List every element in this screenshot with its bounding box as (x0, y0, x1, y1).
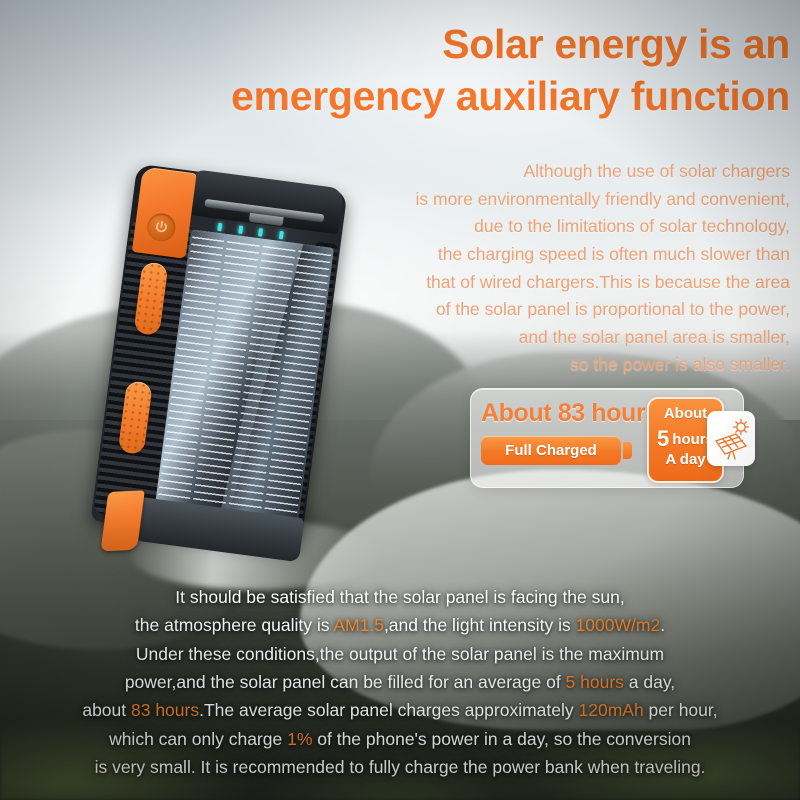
details-text: is very small. It is recommended to full… (95, 757, 706, 777)
power-button[interactable] (146, 212, 177, 243)
details-text: . (660, 615, 665, 635)
details-text: Under these conditions,the output of the… (136, 644, 664, 664)
details-paragraph: It should be satisfied that the solar pa… (20, 583, 780, 781)
callout-title: About 83 hours (481, 399, 659, 428)
solar-panel-sun-icon (711, 416, 751, 461)
details-text: a day, (624, 672, 675, 692)
highlight-120mah: 120mAh (579, 700, 644, 720)
details-text: about (82, 700, 131, 720)
details-line: It should be satisfied that the solar pa… (20, 583, 780, 611)
details-text: of the phone's power in a day, so the co… (312, 729, 691, 749)
power-icon (152, 218, 170, 236)
power-bank-orange-corner (132, 166, 197, 258)
details-text: per hour, (644, 700, 718, 720)
tile-number: 5 (657, 426, 669, 451)
details-line: about 83 hours.The average solar panel c… (20, 696, 780, 724)
details-line: which can only charge 1% of the phone's … (20, 725, 780, 753)
page-title: Solar energy is an emergency auxiliary f… (90, 18, 790, 123)
battery-label: Full Charged (481, 436, 621, 465)
full-charged-battery: Full Charged (481, 436, 631, 465)
solar-panel-sun-icon-tile (707, 411, 755, 466)
details-line: is very small. It is recommended to full… (20, 753, 780, 781)
highlight-irradiance: 1000W/m2 (576, 615, 661, 635)
details-text: power,and the solar panel can be filled … (125, 672, 566, 692)
highlight-am15: AM1.5 (333, 615, 384, 635)
details-text: It should be satisfied that the solar pa… (175, 587, 624, 607)
details-text: ,and the light intensity is (384, 615, 576, 635)
solar-power-bank-product (105, 168, 395, 578)
details-line: power,and the solar panel can be filled … (20, 668, 780, 696)
details-line: the atmosphere quality is AM1.5,and the … (20, 611, 780, 639)
led-indicator-dot (217, 222, 222, 230)
details-text: .The average solar panel charges approxi… (199, 700, 578, 720)
headline-line-1: Solar energy is an (442, 21, 790, 67)
product-marketing-banner: Solar energy is an emergency auxiliary f… (0, 0, 800, 800)
details-text: which can only charge (109, 729, 287, 749)
battery-cap (623, 442, 632, 459)
highlight-83-hours: 83 hours (131, 700, 199, 720)
details-line: Under these conditions,the output of the… (20, 640, 780, 668)
led-indicator-dot (258, 228, 263, 236)
headline-line-2: emergency auxiliary function (90, 70, 790, 122)
led-indicator-dot (238, 225, 243, 233)
charge-time-callout-card: About 83 hours Full Charged About 5hours… (470, 388, 744, 488)
highlight-1-percent: 1% (287, 729, 312, 749)
details-text: the atmosphere quality is (135, 615, 333, 635)
highlight-5-hours: 5 hours (566, 672, 624, 692)
